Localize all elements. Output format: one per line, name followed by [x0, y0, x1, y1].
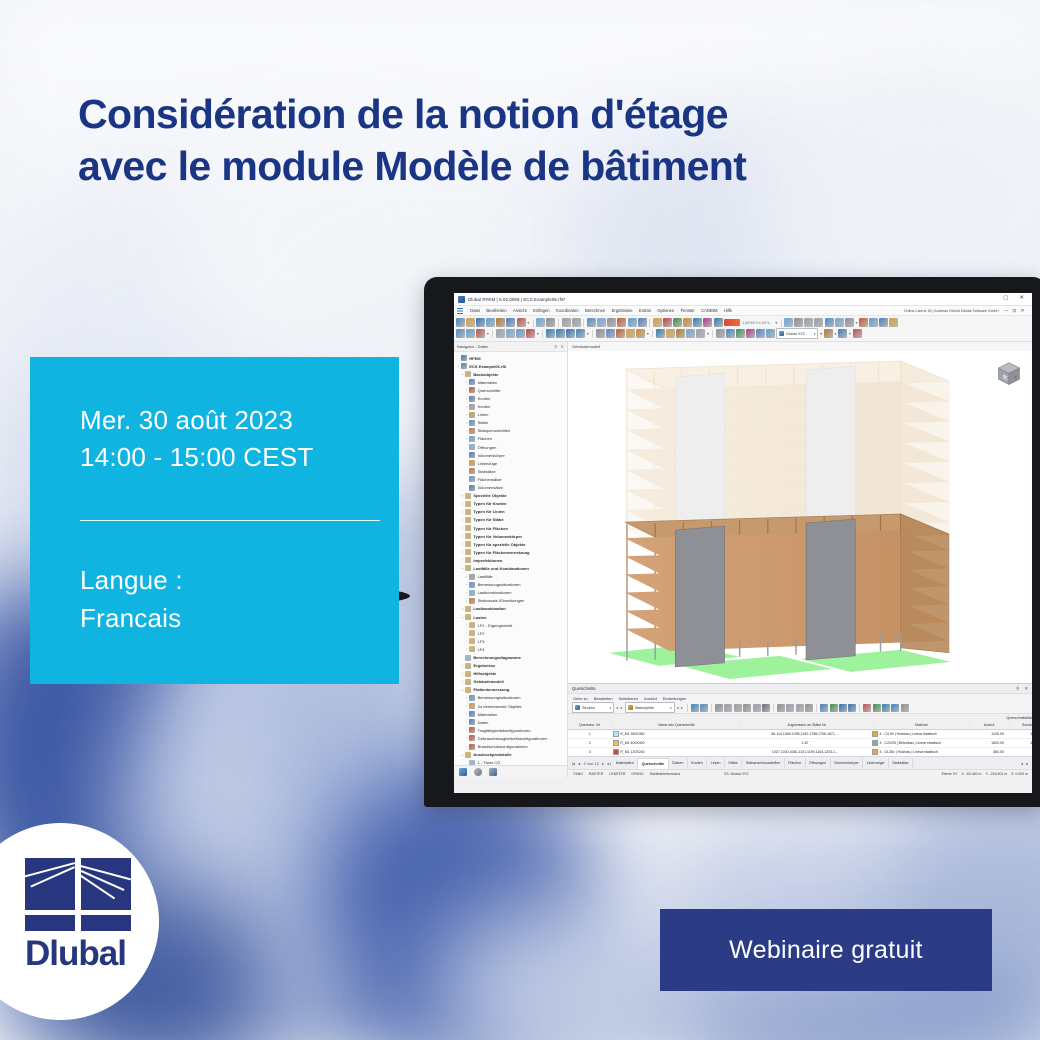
line-tool-icon[interactable]: [466, 329, 475, 338]
surface-icon[interactable]: [546, 329, 555, 338]
table-tab-st-be[interactable]: Stäbe: [725, 758, 742, 768]
tree-item-icon: [469, 711, 475, 717]
support-plates: [609, 645, 951, 679]
data-view-icon[interactable]: [459, 768, 467, 776]
dropdown-caret-icon[interactable]: ▾: [835, 331, 837, 336]
tree-item-icon: [465, 663, 471, 669]
tree-item-8[interactable]: ›Flächen: [456, 435, 567, 443]
import-icon[interactable]: [830, 704, 838, 712]
dropdown-caret-icon[interactable]: ▾: [855, 320, 857, 325]
tree-item-0[interactable]: ⌄Basisobjekte: [456, 370, 567, 378]
free-load-icon[interactable]: [626, 329, 635, 338]
panel4-icon[interactable]: [617, 318, 626, 327]
results-icon[interactable]: [663, 318, 672, 327]
table-tab-bar[interactable]: |◂ ◂ 2 von 12 ▸ ▸| MaterialienQuerschnit…: [568, 756, 1032, 769]
table-tab-linien[interactable]: Linien: [707, 758, 725, 768]
delete-row-icon[interactable]: [786, 704, 794, 712]
tree-item-34[interactable]: ›LF4: [456, 645, 567, 653]
tree-item-45[interactable]: ›Gebrauchstauglichkeitskonfigurationen: [456, 734, 567, 742]
tree-item-30[interactable]: ⌄Lasten: [456, 613, 567, 621]
opening-icon[interactable]: [556, 329, 565, 338]
tree-item-icon: [469, 598, 475, 604]
tree-item-root[interactable]: RFEM: [456, 354, 567, 362]
filter-icon[interactable]: [734, 704, 742, 712]
chevron-down-icon[interactable]: ▾: [670, 706, 672, 710]
menu-item-bearbeiten[interactable]: Bearbeiten: [483, 308, 510, 313]
menu-item-einfügen[interactable]: Einfügen: [530, 308, 553, 313]
tree-item-40[interactable]: ›Bemessungssituationen: [456, 694, 567, 702]
close-icon[interactable]: ✕: [1024, 686, 1028, 692]
table-column-header-4[interactable]: Axial A: [970, 723, 1010, 727]
tree-item-38[interactable]: ›Gebäudemodell: [456, 678, 567, 686]
tree-item-29[interactable]: ›Lastkombination: [456, 605, 567, 613]
window-buttons-secondary[interactable]: — ⊡ ✕: [1004, 308, 1026, 314]
cell-assigned-members: 1027-1030,1060-1101,1159-1164,1203-1...: [739, 750, 871, 754]
panel-toolbar[interactable]: Struktur ▾ ◂ ▸ Stabobjekte ▾ ◂ ▸: [568, 702, 1032, 714]
hinge-icon[interactable]: [526, 329, 535, 338]
snap-icon[interactable]: [656, 329, 665, 338]
tree-item-46[interactable]: ›Brandschutzkonfigurationen: [456, 743, 567, 751]
section-icon[interactable]: [879, 318, 888, 327]
status-flag-ofang[interactable]: OFANG: [630, 772, 645, 776]
tree-item-icon: [469, 703, 475, 709]
chart-icon[interactable]: [891, 704, 899, 712]
align2-icon[interactable]: [825, 318, 834, 327]
panel-menu-bearbeiten[interactable]: Bearbeiten: [594, 696, 613, 701]
tree-item-project[interactable]: ⌄ECS Example06.rf6: [456, 362, 567, 370]
align1-icon[interactable]: [814, 318, 823, 327]
panel-menu-ansicht[interactable]: Ansicht: [644, 696, 657, 701]
tree-item-icon: [465, 565, 471, 571]
refresh-icon[interactable]: [873, 704, 881, 712]
table-tab-fl-chen[interactable]: Flächen: [785, 758, 806, 768]
model-canvas[interactable]: -Y X: [568, 351, 1032, 683]
tree-item-label: Materialien: [478, 380, 498, 385]
tree-item-43[interactable]: ›Daten: [456, 718, 567, 726]
zoom-in-icon[interactable]: [691, 704, 699, 712]
divider: [80, 520, 380, 521]
grid-icon[interactable]: [835, 318, 844, 327]
cell-axial-area: 1600.00: [966, 741, 1005, 745]
toolbar-separator: [583, 319, 584, 327]
insert-row-icon[interactable]: [777, 704, 785, 712]
table-row[interactable]: 3R_M1 120X2401027-1030,1060-1101,1159-11…: [568, 748, 1032, 756]
cell-section-nr: 1: [568, 732, 612, 736]
tree-item-15[interactable]: ›Spezielle Objekte: [456, 492, 567, 500]
nodal-load-icon[interactable]: [596, 329, 605, 338]
tree-item-label: Hilfsobjekte: [473, 671, 496, 676]
navigator-panel[interactable]: Navigator - Daten ⚲ ✕ RFEM⌄ECS Example06…: [454, 342, 568, 777]
tree-item-35[interactable]: Berechnungsdiagramme: [456, 653, 567, 661]
menu-item-optionen[interactable]: Optionen: [654, 308, 677, 313]
paste-icon[interactable]: [546, 318, 555, 327]
copy-icon[interactable]: [536, 318, 545, 327]
close-icon[interactable]: ✕: [1019, 296, 1024, 302]
tree-item-19[interactable]: ›Typen für Flächen: [456, 524, 567, 532]
undo-icon[interactable]: [562, 318, 571, 327]
dim2-icon[interactable]: [756, 329, 765, 338]
webinar-cta-label: Webinaire gratuit: [729, 936, 923, 965]
display-view-icon[interactable]: [474, 768, 482, 776]
table-tab-knoten[interactable]: Knoten: [688, 758, 707, 768]
obj-next-icon[interactable]: ▸: [681, 705, 683, 710]
panel-menu-gehe-zu[interactable]: Gehe zu: [573, 696, 588, 701]
panel-menu[interactable]: Gehe zuBearbeitenSelektierenAnsichtEinst…: [568, 694, 1032, 702]
panel6-icon[interactable]: [638, 318, 647, 327]
tree-item-13[interactable]: Flächensätze: [456, 475, 567, 483]
units-icon[interactable]: [863, 704, 871, 712]
tree-item-27[interactable]: ›Lastkombinationen: [456, 589, 567, 597]
node-icon[interactable]: [859, 318, 868, 327]
menu-item-ansicht[interactable]: Ansicht: [510, 308, 530, 313]
scale-icon[interactable]: [736, 329, 745, 338]
tree-item-label: LF2: [478, 631, 485, 636]
tree-item-1[interactable]: ›Materialien: [456, 378, 567, 386]
check-icon[interactable]: [673, 318, 682, 327]
status-flag-fang[interactable]: FANG: [572, 772, 585, 776]
dropdown-caret-icon[interactable]: ▾: [820, 331, 822, 336]
table-column-header-1[interactable]: Name des Querschnitts: [613, 723, 741, 727]
cs-icon: [779, 331, 784, 336]
tree-item-2[interactable]: ›Querschnitte: [456, 386, 567, 394]
view-cube-icon[interactable]: -Y X: [994, 359, 1024, 389]
tree-item-28[interactable]: ›Stabzusatz-/Einwirkungen: [456, 597, 567, 605]
table-body[interactable]: 1R_M1 350X35056-114,1069-1095,1192-1758,…: [568, 730, 1032, 756]
tree-item-9[interactable]: Öffnungen: [456, 443, 567, 451]
nav-next-icon[interactable]: ▸: [621, 705, 623, 710]
display-icon[interactable]: [853, 329, 862, 338]
toolbar-row-2[interactable]: ▾▾▾▾▾Global XYZ▾▾▾▾: [456, 328, 1030, 339]
navigator-tree[interactable]: RFEM⌄ECS Example06.rf6⌄Basisobjekte›Mate…: [454, 352, 567, 765]
line-load-icon[interactable]: [606, 329, 615, 338]
coord-z: Z: 0.000 m: [1011, 772, 1028, 776]
chevron-down-icon[interactable]: ▾: [609, 706, 611, 710]
freeze-icon[interactable]: [753, 704, 761, 712]
toolbar-row-1[interactable]: ▾1,00*10^1 x 10^1...▾▾: [456, 317, 1030, 328]
merge-icon[interactable]: [796, 704, 804, 712]
chevron-down-icon[interactable]: ▾: [814, 332, 816, 336]
tree-item-23[interactable]: ›Imperfektionen: [456, 556, 567, 564]
tree-item-25[interactable]: ›Lastfälle: [456, 573, 567, 581]
tree-item-label: Typen für Flächen: [473, 526, 508, 531]
node-tool-icon[interactable]: [456, 329, 465, 338]
split-icon[interactable]: [805, 704, 813, 712]
grid-view-icon[interactable]: [715, 704, 723, 712]
tree-item-32[interactable]: ›LF2: [456, 629, 567, 637]
tree-item-37[interactable]: ›Hilfsobjekte: [456, 670, 567, 678]
window-controls[interactable]: ▢ ✕: [1003, 296, 1028, 302]
tree-item-10[interactable]: Volumenkörper: [456, 451, 567, 459]
redo-icon[interactable]: [572, 318, 581, 327]
select-all-icon[interactable]: [762, 704, 770, 712]
layer-icon[interactable]: [824, 329, 833, 338]
text-icon[interactable]: [882, 704, 890, 712]
tree-item-12[interactable]: Stabsätze: [456, 467, 567, 475]
tree-item-icon: [465, 525, 471, 531]
navigator-pin-controls[interactable]: ⚲ ✕: [554, 344, 564, 349]
load-icon[interactable]: [576, 329, 585, 338]
tree-item-icon: [465, 614, 471, 620]
logo-wordmark: Dlubal: [25, 936, 135, 971]
tree-item-label: LF4: [478, 647, 485, 652]
render2-icon[interactable]: [714, 318, 723, 327]
dropdown-caret-icon[interactable]: ▾: [849, 331, 851, 336]
new-icon[interactable]: [456, 318, 465, 327]
tree-item-icon: [465, 655, 471, 661]
columns-icon[interactable]: [743, 704, 751, 712]
tree-item-label: Knoten: [478, 396, 491, 401]
navigator-footer[interactable]: [454, 765, 567, 777]
tree-item-5[interactable]: ›Linien: [456, 411, 567, 419]
panel-menu-selektieren[interactable]: Selektieren: [619, 696, 638, 701]
navigator-title: Navigator - Daten: [457, 344, 488, 349]
table-tab-stabanschlussstellen[interactable]: Stabanschlussstellen: [742, 758, 784, 768]
polyline-icon[interactable]: [496, 329, 505, 338]
dropdown-caret-icon[interactable]: ▾: [527, 320, 529, 325]
tree-item-label: Lastkombination: [473, 606, 505, 611]
intersect-icon[interactable]: [666, 329, 675, 338]
pin-icon[interactable]: ⚲: [554, 344, 557, 349]
color-swatch: [613, 731, 619, 737]
tree-item-label: Bemessungssituationen: [478, 582, 521, 587]
member-tool-icon[interactable]: [506, 329, 515, 338]
results-view-icon[interactable]: [489, 768, 497, 776]
cell-section-name: R_M1 120X240: [612, 749, 739, 755]
webinar-cta-button[interactable]: Webinaire gratuit: [660, 909, 992, 991]
surface-load-icon[interactable]: [616, 329, 625, 338]
cross-sections-panel[interactable]: Querschnitte ⚲ ✕ Gehe zuBearbeitenSelekt…: [568, 683, 1032, 777]
tree-item-11[interactable]: Linienzüge: [456, 459, 567, 467]
tree-item-label: Volumensätze: [478, 485, 503, 490]
tree-item-36[interactable]: ›Ergebnisse: [456, 662, 567, 670]
window-title: Dlubal RFEM | 6.02.0059 | ECS Example06.…: [468, 297, 565, 302]
tree-item-33[interactable]: ›LF3: [456, 637, 567, 645]
tree-item-label: Ergebnisse: [473, 663, 495, 668]
dim3-icon[interactable]: [766, 329, 775, 338]
svg-text:-Y: -Y: [1005, 376, 1009, 380]
tree-item-label: Plattenbemessung: [473, 687, 509, 692]
extend-icon[interactable]: [686, 329, 695, 338]
tree-item-icon: [469, 404, 475, 410]
menu-item-ergebnisse[interactable]: Ergebnisse: [608, 308, 635, 313]
dim1-icon[interactable]: [746, 329, 755, 338]
tree-item-6[interactable]: ›Stäbe: [456, 419, 567, 427]
tree-item-label: Stabquerschnitten: [478, 428, 511, 433]
tree-item-44[interactable]: ›Tragfähigkeitskonfigurationen: [456, 726, 567, 734]
tree-item-icon: [469, 428, 475, 434]
tree-item-icon: [469, 460, 475, 466]
open-icon[interactable]: [466, 318, 475, 327]
table-tab-materialien[interactable]: Materialien: [612, 758, 638, 768]
tree-item-18[interactable]: ›Typen für Stäbe: [456, 516, 567, 524]
zoom-icon[interactable]: [889, 318, 898, 327]
tree-item-47[interactable]: ⌄Ausdruckprotokolle: [456, 751, 567, 759]
dropdown-caret-icon[interactable]: ▾: [587, 331, 589, 336]
toolbar-separator: [649, 319, 650, 327]
support-icon[interactable]: [516, 329, 525, 338]
tree-item-31[interactable]: ›LF1 - Eigengewicht: [456, 621, 567, 629]
status-flag-sichtbarkeitsmodus[interactable]: Sichtbarkeitsmodus: [648, 772, 682, 776]
save-as-icon[interactable]: [486, 318, 495, 327]
panel3-icon[interactable]: [607, 318, 616, 327]
menu-item-koordinaten[interactable]: Koordinaten: [553, 308, 582, 313]
toolbar-separator: [558, 319, 559, 327]
tree-item-24[interactable]: ⌄Lastfälle und Kombinationen: [456, 564, 567, 572]
tree-item-21[interactable]: ›Typen für spezielle Objekte: [456, 540, 567, 548]
render1-icon[interactable]: [703, 318, 712, 327]
menu-item-extras[interactable]: Extras: [636, 308, 654, 313]
tree-item-icon: [469, 735, 475, 741]
table-tab--ffnungen[interactable]: Öffnungen: [806, 758, 831, 768]
panel2-icon[interactable]: [597, 318, 606, 327]
tree-item-41[interactable]: ›Zu bemessende Objekte: [456, 702, 567, 710]
table-icon[interactable]: [693, 318, 702, 327]
trim-icon[interactable]: [676, 329, 685, 338]
dropdown-caret-icon[interactable]: ▾: [537, 331, 539, 336]
toolbar-separator: [542, 330, 543, 338]
tree-item-icon: [469, 420, 475, 426]
dropdown-caret-icon[interactable]: ▾: [647, 331, 649, 336]
title-line-2: avec le module Modèle de bâtiment: [78, 140, 958, 192]
coordinate-system-combo[interactable]: Global XYZ▾: [776, 328, 818, 339]
measure-icon[interactable]: [804, 318, 813, 327]
zoom-out-icon[interactable]: [700, 704, 708, 712]
cross-sections-table[interactable]: Querschnittsflächen [cm²] Querschn. Nr.N…: [568, 714, 1032, 756]
structure-combo[interactable]: Struktur ▾: [572, 702, 614, 713]
menu-bar[interactable]: DateiBearbeitenAnsichtEinfügenKoordinate…: [454, 306, 1032, 316]
table-tab-linienz-ge[interactable]: Linienzüge: [863, 758, 889, 768]
object-combo[interactable]: Stabobjekte ▾: [625, 702, 675, 713]
menu-item-berechnen[interactable]: Berechnen: [582, 308, 609, 313]
tree-item-17[interactable]: ›Typen für Linien: [456, 508, 567, 516]
table-row[interactable]: 1R_M1 350X35056-114,1069-1095,1192-1758,…: [568, 730, 1032, 739]
clipboard-icon[interactable]: [845, 318, 854, 327]
solid-icon[interactable]: [566, 329, 575, 338]
viewport-wrapper: Gebäudemodell: [568, 342, 1032, 777]
status-flag-lraster[interactable]: LRASTER: [608, 772, 627, 776]
tree-item-26[interactable]: ›Bemessungssituationen: [456, 581, 567, 589]
rotate-icon[interactable]: [716, 329, 725, 338]
menu-item-datei[interactable]: Datei: [467, 308, 483, 313]
toolbars[interactable]: ▾1,00*10^1 x 10^1...▾▾ ▾▾▾▾▾Global XYZ▾▾…: [454, 316, 1032, 342]
mirror-icon[interactable]: [696, 329, 705, 338]
menu-item-fenster[interactable]: Fenster: [677, 308, 698, 313]
print-icon[interactable]: [839, 704, 847, 712]
tree-item-42[interactable]: ›Materialien: [456, 710, 567, 718]
maximize-icon[interactable]: ▢: [1003, 296, 1008, 302]
save-icon[interactable]: [476, 318, 485, 327]
pin-icon[interactable]: ⚲: [1016, 686, 1019, 692]
pick-icon[interactable]: [794, 318, 803, 327]
color-scale-indicator[interactable]: [724, 319, 740, 326]
imperfection-icon[interactable]: [636, 329, 645, 338]
tree-item-7[interactable]: ›Stabquerschnitten: [456, 427, 567, 435]
toolbar-separator: [533, 319, 534, 327]
refresh-icon[interactable]: [683, 318, 692, 327]
building-model-3d: [568, 351, 1032, 683]
table-tab-dicken[interactable]: Dicken: [669, 758, 688, 768]
obj-prev-icon[interactable]: ◂: [677, 705, 679, 710]
arc-tool-icon[interactable]: [476, 329, 485, 338]
more-icon[interactable]: [901, 704, 909, 712]
tree-item-22[interactable]: ›Typen für Flächenvernetzung: [456, 548, 567, 556]
panel-menu-einstellungen[interactable]: Einstellungen: [663, 696, 686, 701]
object-icon: [628, 705, 633, 710]
rfem-application: Dlubal RFEM | 6.02.0059 | ECS Example06.…: [454, 293, 1032, 793]
panel5-icon[interactable]: [628, 318, 637, 327]
move-icon[interactable]: [726, 329, 735, 338]
calculate-icon[interactable]: [653, 318, 662, 327]
table-tab-stabs-tze[interactable]: Stabsätze: [889, 758, 913, 768]
print-icon[interactable]: [506, 318, 515, 327]
settings-icon[interactable]: [848, 704, 856, 712]
table-tab-volumenk-rper[interactable]: Volumenkörper: [831, 758, 864, 768]
tree-item-39[interactable]: ⌄Plattenbemessung: [456, 686, 567, 694]
tree-item-label: Linien: [478, 412, 489, 417]
dropdown-caret-icon[interactable]: ▾: [707, 331, 709, 336]
table-column-header-5[interactable]: Schub Ay: [1010, 723, 1032, 727]
menu-item-hilfe[interactable]: Hilfe: [721, 308, 736, 313]
table-tab-querschnitte[interactable]: Querschnitte: [638, 758, 669, 769]
cell-section-name: R_M1 350X350: [612, 731, 739, 737]
object-combo-value: Stabobjekte: [635, 706, 654, 710]
tree-item-label: Berechnungsdiagramme: [473, 655, 520, 660]
toolbar-separator: [859, 704, 860, 712]
tree-item-label: Lasten: [473, 615, 486, 620]
print-preview-icon[interactable]: [496, 318, 505, 327]
app-title-bar: Dlubal RFEM | 6.02.0059 | ECS Example06.…: [454, 293, 1032, 306]
tree-item-label: Gebrauchstauglichkeitskonfigurationen: [478, 736, 548, 741]
nav-prev-icon[interactable]: ◂: [616, 705, 618, 710]
member-icon[interactable]: [869, 318, 878, 327]
dropdown-caret-icon[interactable]: ▾: [775, 320, 777, 325]
filter-icon[interactable]: [784, 318, 793, 327]
table-row[interactable]: 2R_M1 400X4001-873 - C20/25 | Betonbau |…: [568, 739, 1032, 748]
panel1-icon[interactable]: [587, 318, 596, 327]
tree-item-14[interactable]: Volumensätze: [456, 484, 567, 492]
printer-icon[interactable]: [517, 318, 526, 327]
hamburger-icon[interactable]: [457, 308, 463, 314]
status-flag-raster[interactable]: RASTER: [588, 772, 605, 776]
tree-item-4[interactable]: ›Knoten: [456, 403, 567, 411]
tree-item-16[interactable]: ›Typen für Knoten: [456, 500, 567, 508]
table-column-header-0[interactable]: Querschn. Nr.: [568, 723, 613, 727]
tree-item-20[interactable]: ›Typen für Volumenkörper: [456, 532, 567, 540]
tree-item-label: Typen für spezielle Objekte: [473, 542, 525, 547]
visibility-icon[interactable]: [838, 329, 847, 338]
export-icon[interactable]: [820, 704, 828, 712]
tree-item-3[interactable]: ›Knoten: [456, 394, 567, 402]
event-info-box: Mer. 30 août 2023 14:00 - 15:00 CEST Lan…: [30, 357, 399, 684]
table-column-header-2[interactable]: Zugewiesen an Stäbe Nr.: [741, 723, 874, 727]
toolbar-separator: [773, 704, 774, 712]
scroll-right-icon[interactable]: ▸: [1025, 761, 1030, 766]
tree-item-label: Brandschutzkonfigurationen: [478, 744, 528, 749]
toolbar-combo-label: 1,00*10^1 x 10^1...: [741, 321, 774, 325]
tree-item-label: Basisobjekte: [473, 372, 498, 377]
dropdown-caret-icon[interactable]: ▾: [487, 331, 489, 336]
menu-item-cadbim[interactable]: CADBIM: [698, 308, 721, 313]
close-icon[interactable]: ✕: [560, 344, 564, 349]
sort-icon[interactable]: [724, 704, 732, 712]
coordinate-system-label: CS: Global XYZ: [724, 772, 749, 776]
table-column-header-3[interactable]: Material: [874, 723, 970, 727]
lower-storeys-selected: [625, 514, 949, 667]
tree-item-icon: [469, 590, 475, 596]
tree-item-icon: [469, 476, 475, 482]
table-header: Querschnittsflächen [cm²] Querschn. Nr.N…: [568, 714, 1032, 730]
event-date: Mer. 30 août 2023: [80, 402, 399, 439]
